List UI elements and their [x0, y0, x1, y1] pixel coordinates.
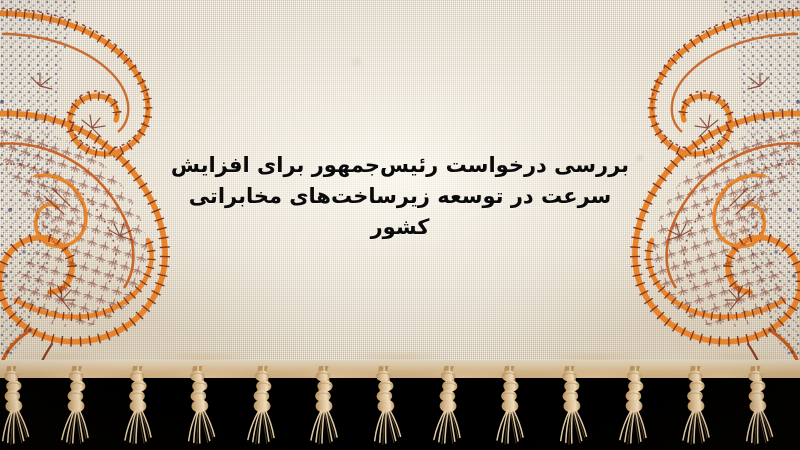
tassel — [121, 366, 155, 450]
textile-banner: بررسی درخواست رئیس‌جمهور برای افزایش سرع… — [0, 0, 800, 450]
tassel — [181, 365, 219, 450]
headline-line-1: بررسی درخواست رئیس‌جمهور برای افزایش — [0, 150, 800, 181]
tassel — [553, 365, 591, 450]
tassel — [0, 365, 33, 450]
tassel-fringe — [0, 360, 800, 450]
tassel — [307, 366, 341, 450]
tassel — [739, 365, 777, 450]
headline-text: بررسی درخواست رئیس‌جمهور برای افزایش سرع… — [0, 150, 800, 243]
tassel — [679, 366, 713, 450]
tassel — [493, 366, 527, 450]
tassel — [430, 365, 467, 450]
tassel — [244, 365, 281, 450]
tassel — [58, 365, 95, 450]
headline-line-2: سرعت در توسعه زیرساخت‌های مخابراتی — [0, 181, 800, 212]
tassel — [616, 365, 653, 450]
tassel — [367, 365, 405, 450]
headline-line-3: کشور — [0, 212, 800, 243]
